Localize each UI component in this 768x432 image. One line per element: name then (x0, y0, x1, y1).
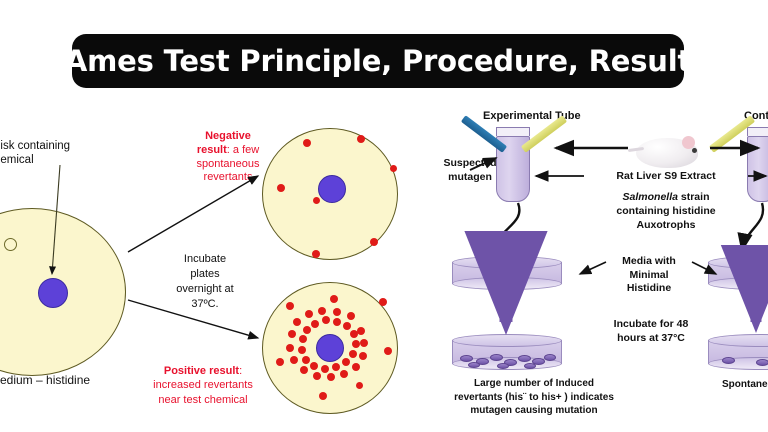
spontaneous-revertants-caption: Spontane (722, 379, 768, 391)
colony (293, 318, 301, 326)
colony (332, 363, 340, 371)
induced-colony (460, 355, 473, 362)
rat-illustration (630, 130, 706, 174)
colony (330, 295, 338, 303)
colony (352, 340, 360, 348)
colony (313, 197, 320, 204)
rat-eye (692, 148, 697, 153)
salmonella-strain-label: Salmonella strain containing histidine A… (586, 190, 746, 233)
plate-bottom-ellipse (708, 277, 768, 290)
colony (333, 308, 341, 316)
colony (299, 335, 307, 343)
positive-plate-chemical-disk (316, 334, 344, 362)
induced-colony (490, 354, 503, 361)
colony (312, 250, 320, 258)
colony (357, 327, 365, 335)
colony (277, 184, 285, 192)
colony (379, 298, 387, 306)
control-tube (747, 136, 768, 202)
colony (303, 139, 311, 147)
colony (288, 330, 296, 338)
induced-revertants-caption: Large number of Induced revertants (his¨… (436, 377, 632, 418)
experimental-tube-mouth (496, 127, 530, 136)
plate-top-ellipse (452, 256, 562, 269)
colony (286, 302, 294, 310)
colony (305, 310, 313, 318)
colony (318, 307, 326, 315)
media-minimal-histidine-label: Media with Minimal Histidine (608, 255, 690, 296)
experimental-plate-after (452, 334, 562, 370)
colony (298, 346, 306, 354)
source-plate-chemical-disk (38, 278, 68, 308)
colony (303, 326, 311, 334)
spontaneous-colony (756, 359, 768, 366)
experimental-tube-label: Experimental Tube (483, 110, 593, 123)
colony (359, 352, 367, 360)
induced-colony (468, 362, 480, 368)
colony (384, 347, 392, 355)
colony (343, 322, 351, 330)
colony (327, 373, 335, 381)
colony (311, 320, 319, 328)
colony (290, 356, 298, 364)
diagram-canvas: Ames Test Principle, Procedure, Result d… (0, 0, 768, 432)
colony (319, 392, 327, 400)
colony (340, 370, 348, 378)
colony (370, 238, 378, 246)
colony (357, 135, 365, 143)
colony (356, 382, 363, 389)
induced-colony (544, 354, 556, 361)
control-tube-mouth (747, 127, 768, 136)
induced-colony (497, 363, 509, 369)
induced-colony (524, 363, 536, 369)
colony (347, 312, 355, 320)
colony (390, 165, 397, 172)
control-plate-before (708, 256, 768, 290)
agar-medium-label: medium – histidine (0, 373, 140, 387)
colony (322, 316, 330, 324)
negative-plate-chemical-disk (318, 175, 346, 203)
colony (360, 339, 368, 347)
inoculation-ring-icon (4, 238, 17, 251)
experimental-plate-before (452, 256, 562, 290)
colony (300, 366, 308, 374)
colony (286, 344, 294, 352)
colony (352, 363, 360, 371)
positive-result-label: Positive result: increased revertants ne… (136, 364, 270, 407)
colony (321, 365, 329, 373)
plate-bottom-ellipse (452, 277, 562, 290)
induced-colony (518, 355, 531, 362)
incubate-plates-label: Incubate plates overnight at 37ºC. (155, 252, 255, 311)
page-title: Ames Test Principle, Procedure, Result (65, 44, 691, 78)
colony (349, 350, 357, 358)
control-plate-after (708, 334, 768, 370)
title-banner: Ames Test Principle, Procedure, Result (72, 34, 684, 88)
rat-liver-s9-label: Rat Liver S9 Extract (586, 170, 746, 182)
incubate-48h-label: Incubate for 48 hours at 37°C (601, 318, 701, 345)
colony (276, 358, 284, 366)
spontaneous-colony (722, 357, 735, 364)
colony (342, 358, 350, 366)
colony (313, 372, 321, 380)
colony (333, 318, 341, 326)
disk-chemical-label: disk containing hemical (0, 140, 104, 167)
colony (302, 356, 310, 364)
suspected-mutagen-label: Suspected mutagen (434, 157, 506, 184)
plate-top-ellipse (452, 334, 562, 347)
colony (310, 362, 318, 370)
